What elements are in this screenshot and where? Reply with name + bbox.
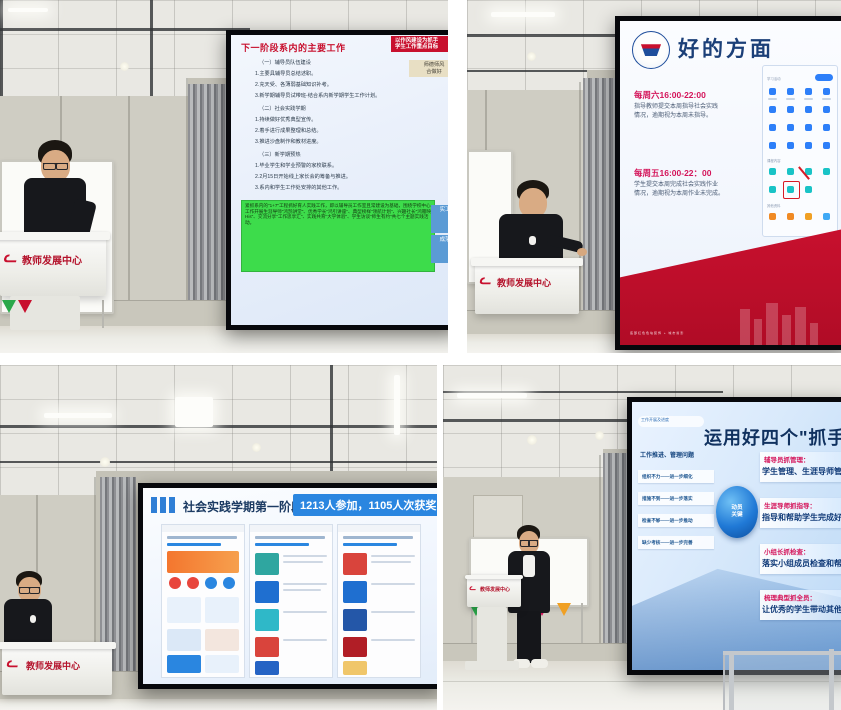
- feature-icon: [187, 577, 199, 589]
- ceiling-lamp: [8, 8, 48, 12]
- ceiling-beam: [0, 0, 3, 100]
- content-card: [167, 655, 201, 673]
- point-value: 让优秀的学生带动其他学生: [762, 604, 841, 615]
- led-screen: 下一阶段系内的主要工作 以作风建设为抓手 学生工作重点目标 师德师风 合做好 （…: [226, 30, 448, 330]
- platform-screenshot: [161, 524, 245, 678]
- point-value: 指导和帮助学生完成好任务: [762, 512, 841, 523]
- decor-bar: [160, 497, 166, 513]
- left-row-text: 组织不力——进一步细化: [642, 474, 693, 480]
- inner-shirt: [523, 555, 535, 577]
- podium-foot: [465, 661, 519, 670]
- list-thumb: [343, 637, 367, 657]
- slide-content: 好的方面 每周六16:00-22:00 指导教师提交本周指导社会实践 情况，逾期…: [620, 21, 841, 345]
- time-desc-line: 学生提交本周完成社会实践作业: [634, 181, 758, 190]
- list-thumb: [255, 661, 279, 675]
- list-text: [283, 639, 327, 641]
- podium-top: [0, 232, 110, 240]
- banner-flag-icon: [2, 300, 16, 313]
- app-icon: [805, 213, 812, 220]
- app-icon: [805, 106, 812, 113]
- content-card: [167, 629, 201, 651]
- point-value: 落实小组成员检查和帮带: [762, 558, 841, 569]
- list-thumb: [255, 553, 279, 575]
- app-icon: [805, 124, 812, 131]
- slide-title: 下一阶段系内的主要工作: [241, 41, 346, 54]
- platform-screenshot: [249, 524, 333, 678]
- banner-card: [167, 551, 239, 573]
- green-highlight-box: 紧抓系内的"1+7"工程抓好育人实践工作，即以辅导员工作室且常建设为基础，围绕学…: [241, 200, 435, 272]
- left-row: 缺少考核——进一步完善: [638, 536, 714, 549]
- feature-icon: [169, 577, 181, 589]
- title-decor-bars: [151, 497, 175, 513]
- panel-bottom-right: 工作开展及进度 运用好四个"抓手" 工作推进、管理问题 组织不力——进一步细化 …: [443, 365, 841, 710]
- decor-bar: [169, 497, 175, 513]
- blue-box: 实工: [431, 205, 448, 233]
- screenshot-header-row: [343, 536, 413, 539]
- list-text: [283, 611, 327, 613]
- feature-icon: [223, 577, 235, 589]
- list-thumb: [255, 609, 279, 631]
- app-icon: [769, 142, 776, 149]
- city-silhouette: [740, 309, 750, 345]
- list-thumb: [343, 581, 367, 603]
- slide-title: 好的方面: [678, 33, 774, 63]
- content-card: [205, 629, 239, 651]
- podium: ᓚ 教师发展中心: [0, 236, 106, 296]
- ceiling-lamp: [394, 375, 400, 435]
- platform-screenshot: [337, 524, 421, 678]
- center-ball-text: 动员 关键: [716, 505, 758, 519]
- folding-partition: [583, 78, 619, 346]
- slide-content: 工作开展及进度 运用好四个"抓手" 工作推进、管理问题 组织不力——进一步细化 …: [632, 402, 841, 670]
- panel-top-left: 下一阶段系内的主要工作 以作风建设为抓手 学生工作重点目标 师德师风 合做好 （…: [0, 0, 448, 353]
- time-desc: 学生提交本周完成社会实践作业 情况，逾期视为本周作业未完成。: [634, 181, 758, 199]
- status-bar: [162, 525, 244, 532]
- status-bar: [250, 525, 332, 532]
- app-icon: [787, 88, 794, 95]
- app-icon: [823, 106, 830, 113]
- list-text: [371, 561, 411, 563]
- ceiling-beam: [0, 28, 250, 31]
- app-label: [786, 98, 795, 100]
- led-screen: 工作开展及进度 运用好四个"抓手" 工作推进、管理问题 组织不力——进一步细化 …: [627, 397, 841, 675]
- legs: [517, 611, 541, 663]
- app-icon: [787, 213, 794, 220]
- point-key: 梳理典型抓全员：: [764, 592, 816, 602]
- ceiling-beam: [0, 425, 437, 428]
- phone-group-label: 其他资料: [767, 203, 781, 208]
- app-label: [822, 98, 831, 100]
- list-text: [283, 589, 321, 591]
- podium-label: 教师发展中心: [480, 586, 510, 593]
- downlight: [252, 443, 261, 452]
- glass-railing: [723, 653, 841, 710]
- app-icon: [805, 142, 812, 149]
- folding-partition: [603, 453, 629, 665]
- wall-seam: [128, 96, 130, 326]
- city-silhouette: [754, 319, 762, 345]
- list-text: [371, 639, 415, 641]
- phone-group-label: 学习活动: [767, 76, 781, 81]
- badge: [30, 615, 36, 623]
- section-item: 3.系内和学生工作处安排的其他工作。: [255, 184, 342, 191]
- podium-top: [0, 642, 116, 649]
- list-text: [283, 555, 327, 557]
- whiteboard-leg: [102, 300, 104, 328]
- red-banner: 以作风建设为抓手 学生工作重点目标: [391, 36, 448, 52]
- point-key: 辅导员抓管理：: [764, 454, 810, 464]
- glasses-icon: [43, 163, 68, 170]
- screenshot-header-row: [343, 543, 397, 546]
- podium-label: 教师发展中心: [497, 276, 551, 289]
- app-icon: [823, 88, 830, 95]
- stat-badge: 1213人参加，1105人次获奖: [293, 494, 437, 516]
- time-desc: 指导教师提交本周指导社会实践 情况，逾期视为本周未指导。: [634, 103, 758, 121]
- list-thumb: [343, 553, 367, 575]
- panel-top-right: 好的方面 每周六16:00-22:00 指导教师提交本周指导社会实践 情况，逾期…: [467, 0, 841, 353]
- red-footer-decor: 底部红色色块装饰 + 城市剪影: [620, 228, 841, 345]
- app-icon: [823, 213, 830, 220]
- ball-line-2: 关键: [716, 512, 758, 519]
- podium: ᓚ 教师发展中心: [467, 577, 521, 607]
- downlight: [527, 52, 536, 61]
- rail-post: [729, 653, 734, 710]
- list-thumb: [255, 581, 279, 603]
- point-key: 小组长抓检查：: [764, 546, 810, 556]
- app-icon: [805, 88, 812, 95]
- decor-bar: [151, 497, 157, 513]
- left-row-text: 措施不到——进一步落实: [642, 496, 693, 502]
- app-icon: [823, 142, 830, 149]
- time-heading: 每周六16:00-22:00: [634, 89, 706, 101]
- ceiling-lamp: [457, 393, 527, 398]
- time-desc-line: 情况，逾期视为本周未指导。: [634, 112, 758, 121]
- section-heading: （二）社会实践学期: [259, 105, 306, 112]
- footer-strip-label: 底部红色色块装饰 + 城市剪影: [630, 331, 684, 335]
- section-item: 3.推进沙盘制作和教材进度。: [255, 138, 322, 145]
- content-card: [167, 597, 201, 623]
- section-item: 1.毕业学生和学业预警的家校联系。: [255, 162, 337, 169]
- tan-box: 师德师风 合做好: [409, 60, 448, 77]
- downlight: [595, 431, 604, 440]
- status-bar: [338, 525, 420, 532]
- podium-label: 教师发展中心: [22, 252, 82, 267]
- slide-corner-tab: 工作开展及进度: [638, 416, 704, 427]
- ceiling-beam: [150, 0, 153, 100]
- downlight: [100, 457, 110, 467]
- point-value: 学生管理、生涯导师管理: [762, 466, 841, 477]
- phone-screenshot: 学习活动: [762, 65, 838, 237]
- left-caption: 工作推进、管理问题: [640, 450, 694, 459]
- app-icon: [823, 124, 830, 131]
- list-thumb: [255, 637, 279, 657]
- downlight: [120, 62, 129, 71]
- tan-box-line-2: 合做好: [412, 69, 448, 76]
- gutter-vertical-bottom: [437, 365, 443, 710]
- ceiling-lamp: [44, 413, 112, 418]
- city-silhouette: [795, 307, 806, 345]
- glasses-icon: [520, 540, 538, 546]
- red-banner-line-2: 学生工作重点目标: [395, 44, 448, 50]
- list-text: [371, 611, 415, 613]
- slide-content: 下一阶段系内的主要工作 以作风建设为抓手 学生工作重点目标 师德师风 合做好 （…: [231, 35, 448, 325]
- section-item: 1.持续做好优秀典型宣传。: [255, 116, 316, 123]
- floor: [0, 326, 448, 353]
- blue-box: 成落: [431, 235, 448, 263]
- ball-line-1: 动员: [716, 505, 758, 512]
- gutter-horizontal: [0, 353, 841, 365]
- podium-base: [477, 607, 507, 665]
- downlight: [527, 435, 537, 445]
- list-text: [371, 555, 415, 557]
- ceiling-light-panel: [175, 397, 213, 427]
- photo-collage: 下一阶段系内的主要工作 以作风建设为抓手 学生工作重点目标 师德师风 合做好 （…: [0, 0, 841, 710]
- banner-flag-icon: [557, 603, 571, 616]
- section-heading: （一）辅导员队伍建设: [259, 59, 311, 66]
- banner-flag-icon: [18, 300, 32, 313]
- podium: ᓚ 教师发展中心: [2, 645, 112, 695]
- app-icon: [769, 88, 776, 95]
- decor-banner: [0, 300, 40, 320]
- whiteboard-leg: [581, 603, 583, 643]
- app-icon: [787, 142, 794, 149]
- section-item: 3.新学期辅导员试带班-结合系内新学期学生工作计划。: [255, 92, 380, 99]
- section-item: 2.着手进行成果整理和总结。: [255, 127, 322, 134]
- left-row: 组织不力——进一步细化: [638, 470, 714, 483]
- app-icon: [787, 106, 794, 113]
- screenshot-header-row: [167, 543, 221, 546]
- content-card: [205, 597, 239, 623]
- left-row-text: 缺少考核——进一步完善: [642, 540, 693, 546]
- time-desc-line: 情况，逾期视为本周作业未完成。: [634, 190, 758, 199]
- app-icon: [823, 168, 830, 175]
- highlight-box: [783, 181, 800, 199]
- led-screen: 社会实践学期第一阶段总结 1213人参加，1105人次获奖: [138, 483, 437, 689]
- city-silhouette: [766, 303, 778, 345]
- point-key: 生涯导师抓指导：: [764, 500, 816, 510]
- section-item: 2.2月15日开始线上家长会的筹备与推进。: [255, 173, 351, 180]
- podium-logo-icon: ᓚ: [3, 247, 17, 267]
- app-icon: [769, 186, 776, 193]
- phone-pill: [815, 74, 833, 81]
- feature-icon: [205, 577, 217, 589]
- center-ball: 动员 关键: [716, 486, 758, 538]
- section-item: 2.充天受、各薄弱基础知识补考。: [255, 81, 332, 88]
- screenshot-header-row: [255, 536, 325, 539]
- podium-logo-icon: ᓚ: [479, 272, 491, 289]
- glasses-icon: [19, 587, 40, 593]
- led-screen: 好的方面 每周六16:00-22:00 指导教师提交本周指导社会实践 情况，逾期…: [615, 16, 841, 350]
- list-text: [283, 583, 327, 585]
- list-text: [371, 583, 415, 585]
- podium-top: [465, 575, 523, 579]
- app-label: [768, 98, 777, 100]
- city-silhouette: [782, 315, 791, 345]
- time-desc-line: 指导教师提交本周指导社会实践: [634, 103, 758, 112]
- list-text: [283, 561, 323, 563]
- ceiling-beam: [0, 461, 437, 463]
- app-icon: [787, 168, 794, 175]
- slide-content: 社会实践学期第一阶段总结 1213人参加，1105人次获奖: [143, 488, 437, 684]
- section-item: 1.主要具辅导员总结述职。: [255, 70, 316, 77]
- floor: [0, 699, 437, 710]
- left-row-text: 检查不够——进一步推动: [642, 518, 693, 524]
- shoe: [531, 659, 548, 668]
- gutter-vertical-top: [448, 0, 467, 353]
- rail-top: [723, 651, 841, 655]
- podium-logo-icon: ᓚ: [469, 583, 476, 592]
- screenshot-header-row: [167, 536, 237, 539]
- podium: ᓚ 教师发展中心: [475, 262, 579, 314]
- wall-seam: [599, 455, 601, 667]
- list-thumb: [343, 609, 367, 631]
- time-heading: 每周五16:00-22：00: [634, 167, 711, 179]
- app-icon: [769, 106, 776, 113]
- badge: [529, 236, 536, 245]
- city-silhouette: [810, 323, 818, 345]
- app-icon: [769, 168, 776, 175]
- app-icon: [805, 186, 812, 193]
- rail-post: [829, 649, 834, 710]
- list-thumb: [343, 661, 367, 675]
- left-row: 措施不到——进一步落实: [638, 492, 714, 505]
- app-icon: [769, 124, 776, 131]
- podium-top: [471, 258, 583, 265]
- slide-title: 运用好四个"抓手": [704, 424, 841, 450]
- app-icon: [769, 213, 776, 220]
- screenshot-header-row: [255, 543, 309, 546]
- panel-bottom-left: 社会实践学期第一阶段总结 1213人参加，1105人次获奖: [0, 365, 437, 710]
- hand: [577, 248, 587, 256]
- left-row: 检查不够——进一步推动: [638, 514, 714, 527]
- ceiling-lamp: [491, 12, 555, 17]
- school-logo-icon: [632, 31, 670, 69]
- app-label: [804, 98, 813, 100]
- app-icon: [787, 124, 794, 131]
- content-card: [205, 655, 239, 673]
- podium-label: 教师发展中心: [26, 659, 80, 672]
- phone-group-label: 课程内容: [767, 158, 781, 163]
- section-heading: （三）新学期预热: [259, 151, 301, 158]
- podium-logo-icon: ᓚ: [6, 655, 18, 672]
